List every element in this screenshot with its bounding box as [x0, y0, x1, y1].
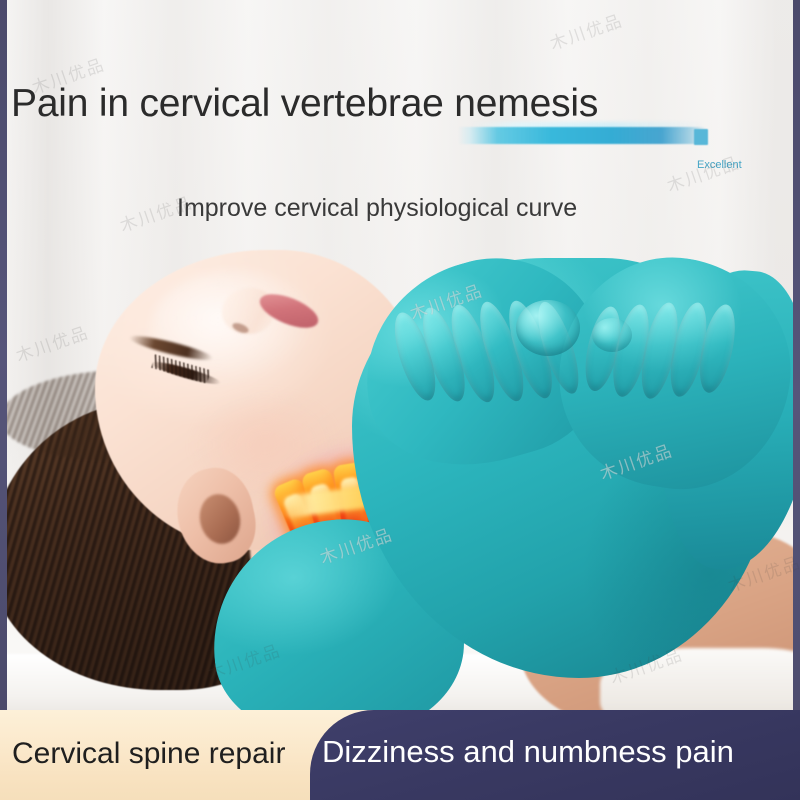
left-edge-rail [0, 0, 7, 712]
page-subtitle: Improve cervical physiological curve [177, 196, 577, 221]
bottom-panel-right-label: Dizziness and numbness pain [322, 736, 734, 767]
excellent-badge: Excellent [697, 160, 742, 171]
product-advertisement: Excellent Pain in cervical vertebrae nem… [0, 0, 800, 800]
page-title: Pain in cervical vertebrae nemesis [11, 84, 598, 123]
right-edge-rail [793, 0, 800, 800]
brush-stroke-accent [458, 127, 706, 144]
brush-stroke-tip [694, 129, 708, 145]
device-center-knob [516, 300, 580, 356]
bottom-panel-left-label: Cervical spine repair [12, 739, 285, 769]
